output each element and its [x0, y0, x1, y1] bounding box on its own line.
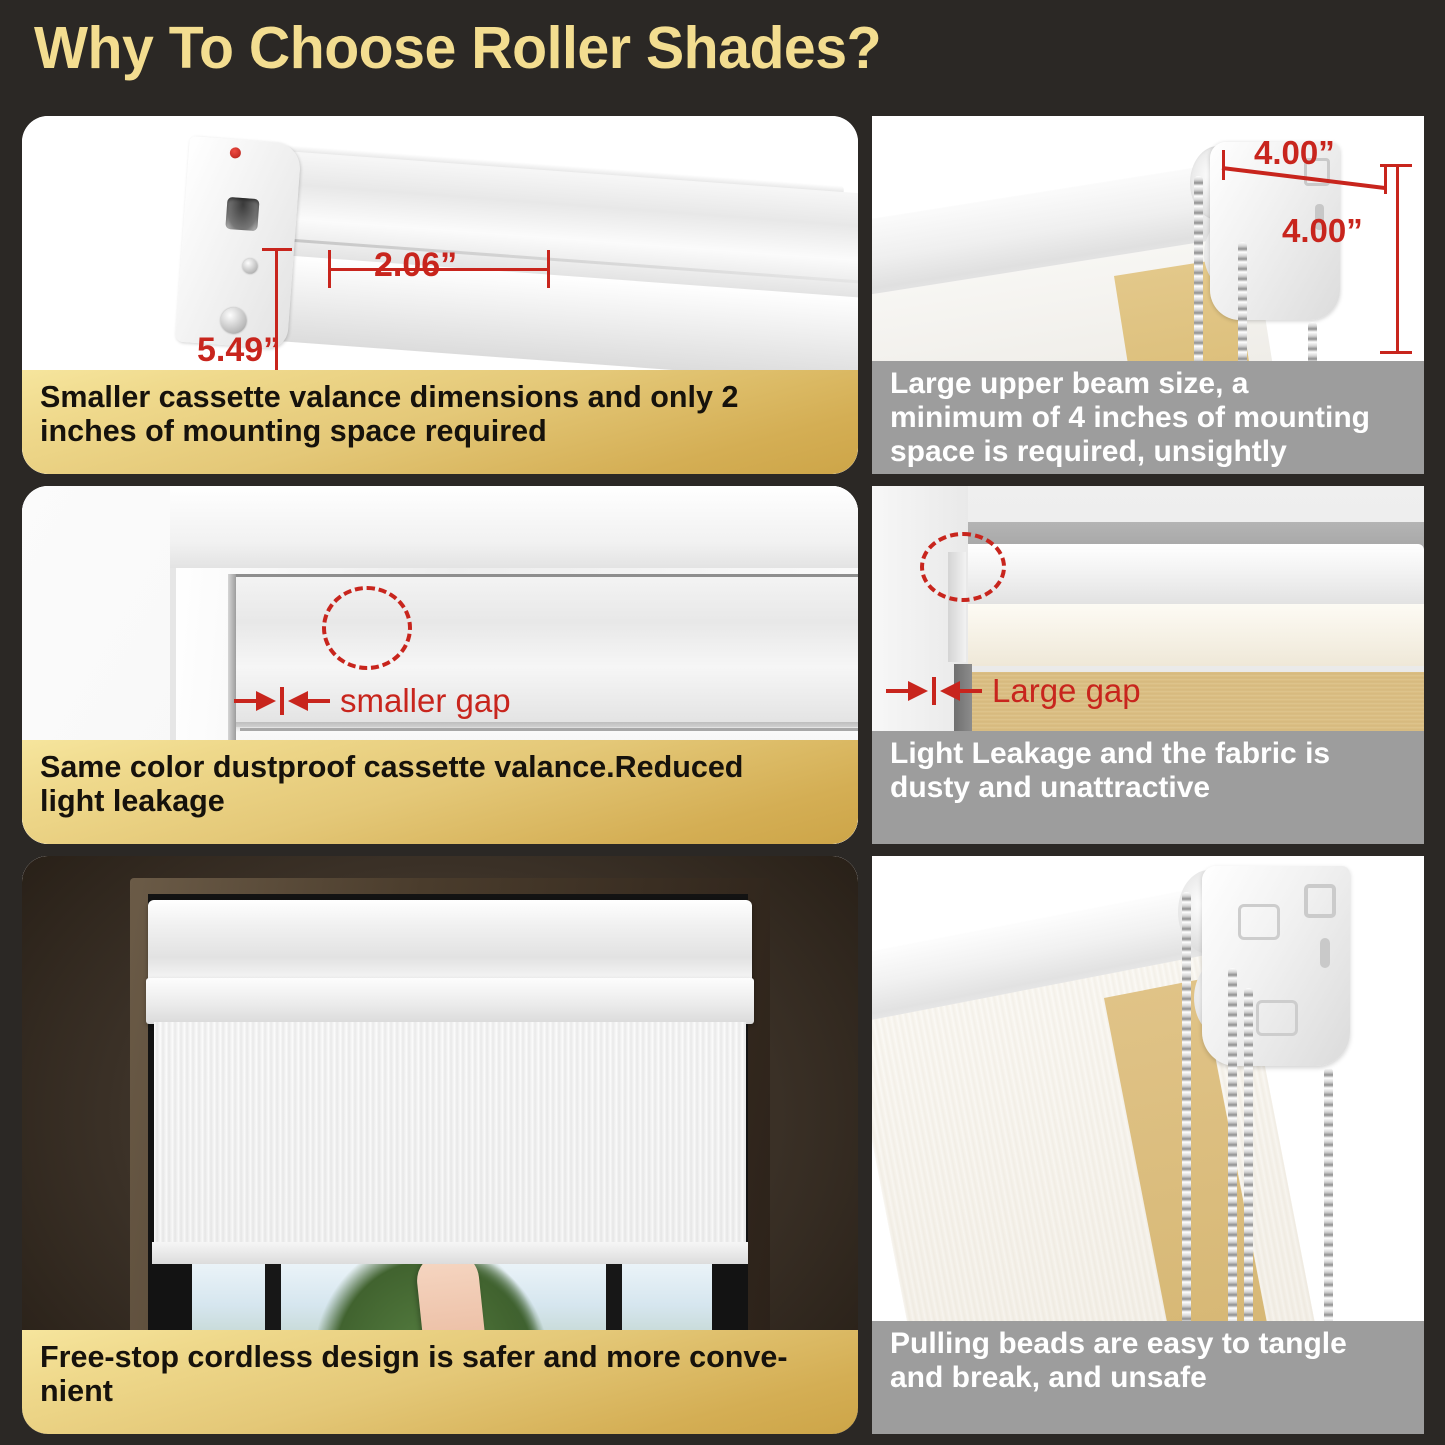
caption-line: nient	[40, 1374, 840, 1408]
valance-bottom-rail	[146, 978, 754, 1024]
width-dimension-label: 2.06”	[374, 246, 457, 285]
panel-caption: Smaller cassette valance dimensions and …	[22, 370, 858, 474]
height-dimension-line	[1396, 164, 1399, 354]
width-dimension-label: 4.00”	[1254, 134, 1335, 172]
gap-marker	[280, 687, 284, 715]
caption-line: Light Leakage and the fabric is	[890, 737, 1406, 771]
panel-caption: Same color dustproof cassette valance.Re…	[22, 740, 858, 844]
caption-line: dusty and unattractive	[890, 771, 1406, 805]
arrow-tail	[308, 699, 330, 703]
hem-bar	[152, 1242, 748, 1264]
shade-fabric	[154, 1022, 746, 1250]
height-dimension-label: 5.49”	[197, 331, 280, 370]
panel-smaller-cassette: 2.06” 5.49” Smaller cassette valance dim…	[22, 116, 858, 474]
arrow-left-icon	[288, 691, 308, 711]
panel-dustproof-valance: smaller gap Same color dustproof cassett…	[22, 486, 858, 844]
caption-line: light leakage	[40, 784, 840, 818]
panel-pulling-beads: Pulling beads are easy to tangle and bre…	[872, 856, 1424, 1434]
bead-chain	[1244, 988, 1253, 1364]
panel-grid: 2.06” 5.49” Smaller cassette valance dim…	[0, 108, 1445, 1445]
panel-light-leakage: Large gap Light Leakage and the fabric i…	[872, 486, 1424, 844]
arrow-left-icon	[940, 681, 960, 701]
caption-line: Same color dustproof cassette valance.Re…	[40, 750, 840, 784]
arrow-tail	[234, 699, 256, 703]
end-cap-slot	[225, 197, 259, 231]
gap-label: Large gap	[992, 672, 1141, 710]
caption-line: space is required, unsightly	[890, 435, 1406, 469]
gap-marker	[932, 677, 936, 705]
arrow-tail	[960, 689, 982, 693]
window-frame-header	[170, 486, 858, 568]
height-dimension-label: 4.00”	[1282, 212, 1363, 250]
width-dimension-tick-right	[547, 250, 550, 288]
bead-chain	[1182, 892, 1191, 1362]
panel-cordless-design: Free-stop cordless design is safer and m…	[22, 856, 858, 1434]
panel-caption: Large upper beam size, a minimum of 4 in…	[872, 361, 1424, 474]
caption-line: Large upper beam size, a	[890, 367, 1406, 401]
bracket-notch-icon	[1256, 1000, 1298, 1036]
arrow-tail	[886, 689, 908, 693]
red-measure-pin	[229, 147, 241, 159]
valance-end-cap	[175, 136, 302, 350]
beam-lower-face	[968, 604, 1424, 666]
panel-large-upper-beam: 4.00” 4.00” Large upper beam size, a min…	[872, 116, 1424, 474]
mounting-bracket	[1202, 866, 1350, 1066]
caption-line: minimum of 4 inches of mounting	[890, 401, 1406, 435]
caption-line: Smaller cassette valance dimensions and …	[40, 380, 840, 414]
highlight-circle-icon	[322, 586, 412, 670]
bracket-notch-icon	[1238, 904, 1280, 940]
arrow-right-icon	[256, 691, 276, 711]
panel-caption: Light Leakage and the fabric is dusty an…	[872, 731, 1424, 844]
width-dimension-tick-left	[328, 250, 331, 288]
panel-caption: Pulling beads are easy to tangle and bre…	[872, 1321, 1424, 1434]
page-title: Why To Choose Roller Shades?	[34, 18, 881, 80]
caption-line: and break, and unsafe	[890, 1361, 1406, 1395]
height-dimension-tick-top	[262, 248, 292, 251]
caption-line: Free-stop cordless design is safer and m…	[40, 1340, 840, 1374]
gap-label: smaller gap	[340, 682, 511, 720]
width-dimension-tick-left	[1222, 150, 1225, 180]
large-gap-annotation: Large gap	[886, 672, 1141, 710]
caption-line: Pulling beads are easy to tangle	[890, 1327, 1406, 1361]
arrow-right-icon	[908, 681, 928, 701]
highlight-circle-icon	[920, 532, 1006, 602]
caption-line: inches of mounting space required	[40, 414, 840, 448]
height-dimension-tick-bottom	[1380, 351, 1412, 354]
panel-caption: Free-stop cordless design is safer and m…	[22, 1330, 858, 1434]
end-cap-screw-upper	[242, 258, 258, 274]
width-dimension-tick-right	[1384, 164, 1387, 194]
bead-chain	[1324, 1068, 1333, 1364]
smaller-gap-annotation: smaller gap	[234, 682, 511, 720]
infographic-page: Why To Choose Roller Shades?	[0, 0, 1445, 1445]
height-dimension-tick-top	[1380, 164, 1412, 167]
bead-chain	[1228, 968, 1237, 1364]
cassette-valance	[148, 900, 752, 982]
